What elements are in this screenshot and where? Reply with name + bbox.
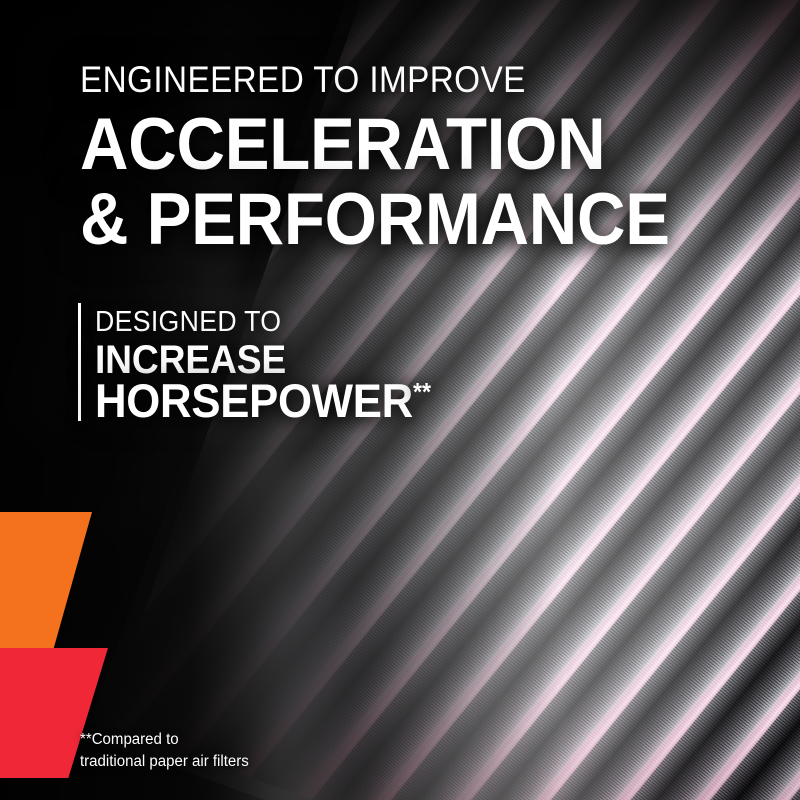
headline-line-2: & PERFORMANCE: [80, 183, 670, 256]
footnote-line-1: **Compared to: [80, 729, 249, 751]
footnote-block: **Compared to traditional paper air filt…: [80, 729, 249, 773]
marketing-banner: ENGINEERED TO IMPROVE ACCELERATION & PER…: [0, 0, 800, 800]
subhead-line-2-text: HORSEPOWER: [95, 374, 413, 427]
text-layer: ENGINEERED TO IMPROVE ACCELERATION & PER…: [0, 0, 800, 800]
subhead-line-2: HORSEPOWER**: [95, 377, 431, 424]
headline-eyebrow: ENGINEERED TO IMPROVE: [80, 61, 526, 98]
footnote-marker: **: [413, 378, 431, 406]
footnote-line-2: traditional paper air filters: [80, 751, 249, 773]
subhead-vertical-rule: [78, 303, 81, 421]
headline-line-1: ACCELERATION: [80, 108, 605, 181]
subhead-eyebrow: DESIGNED TO: [95, 308, 281, 337]
